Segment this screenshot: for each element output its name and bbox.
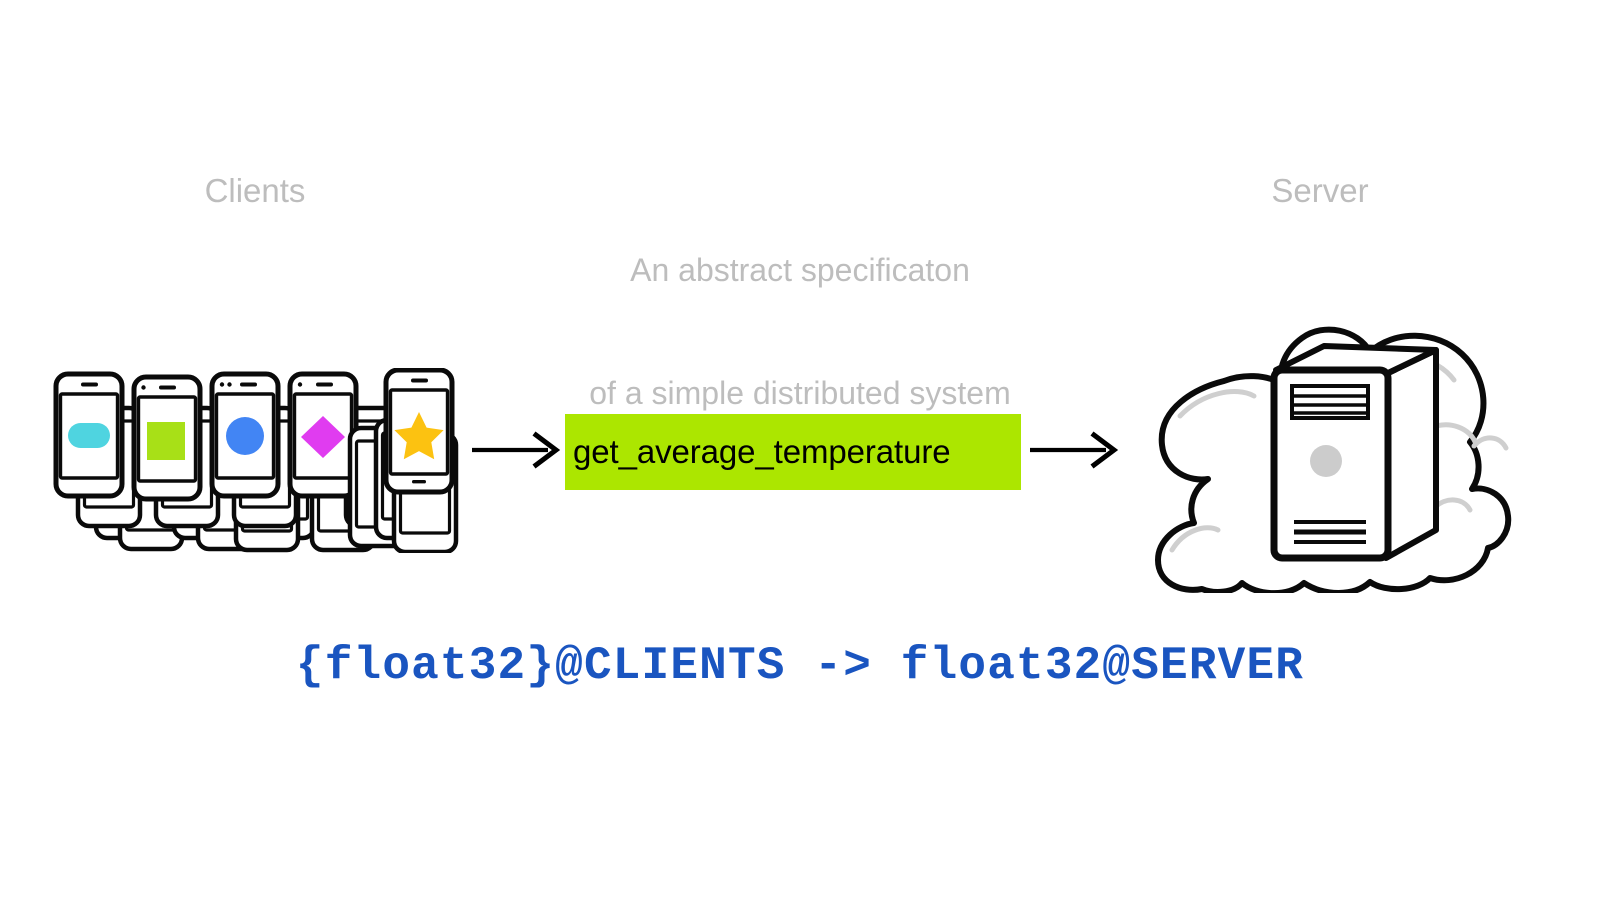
function-call-label: get_average_temperature — [573, 433, 950, 471]
clients-device-stack — [50, 368, 470, 553]
square-shape — [147, 422, 185, 460]
arrow-call-to-server-icon — [1028, 425, 1120, 473]
rounded-pill-shape — [68, 423, 110, 448]
front-sensor-icon — [227, 382, 231, 386]
client-device-3-front — [212, 374, 278, 496]
earpiece-speaker-icon — [316, 383, 333, 387]
front-camera-icon — [220, 382, 224, 386]
server-tower-icon — [1274, 346, 1436, 558]
type-signature-text: {float32}@CLIENTS -> float32@SERVER — [0, 640, 1600, 692]
specification-caption-line1: An abstract specificaton — [470, 250, 1130, 291]
front-camera-icon — [298, 382, 302, 386]
client-device-5-front — [386, 370, 452, 492]
diagram-canvas: Clients An abstract specificaton of a si… — [0, 0, 1600, 900]
server-power-indicator-icon — [1310, 445, 1342, 477]
client-device-1-front — [56, 374, 122, 496]
earpiece-speaker-icon — [411, 379, 428, 383]
specification-caption-line2: of a simple distributed system — [470, 373, 1130, 414]
home-indicator-icon — [412, 480, 426, 483]
clients-column-label: Clients — [100, 170, 410, 212]
client-device-4-front — [290, 374, 356, 496]
client-device-2-front — [134, 377, 200, 499]
earpiece-speaker-icon — [240, 383, 257, 387]
earpiece-speaker-icon — [159, 386, 176, 390]
circle-shape — [226, 417, 264, 455]
front-camera-icon — [141, 385, 145, 389]
client-device-5 — [350, 370, 456, 552]
function-call-highlight[interactable]: get_average_temperature — [565, 414, 1021, 490]
server-cloud-illustration — [1118, 268, 1518, 593]
server-column-label: Server — [1180, 170, 1460, 212]
earpiece-speaker-icon — [81, 383, 98, 387]
arrow-clients-to-call-icon — [470, 425, 562, 473]
